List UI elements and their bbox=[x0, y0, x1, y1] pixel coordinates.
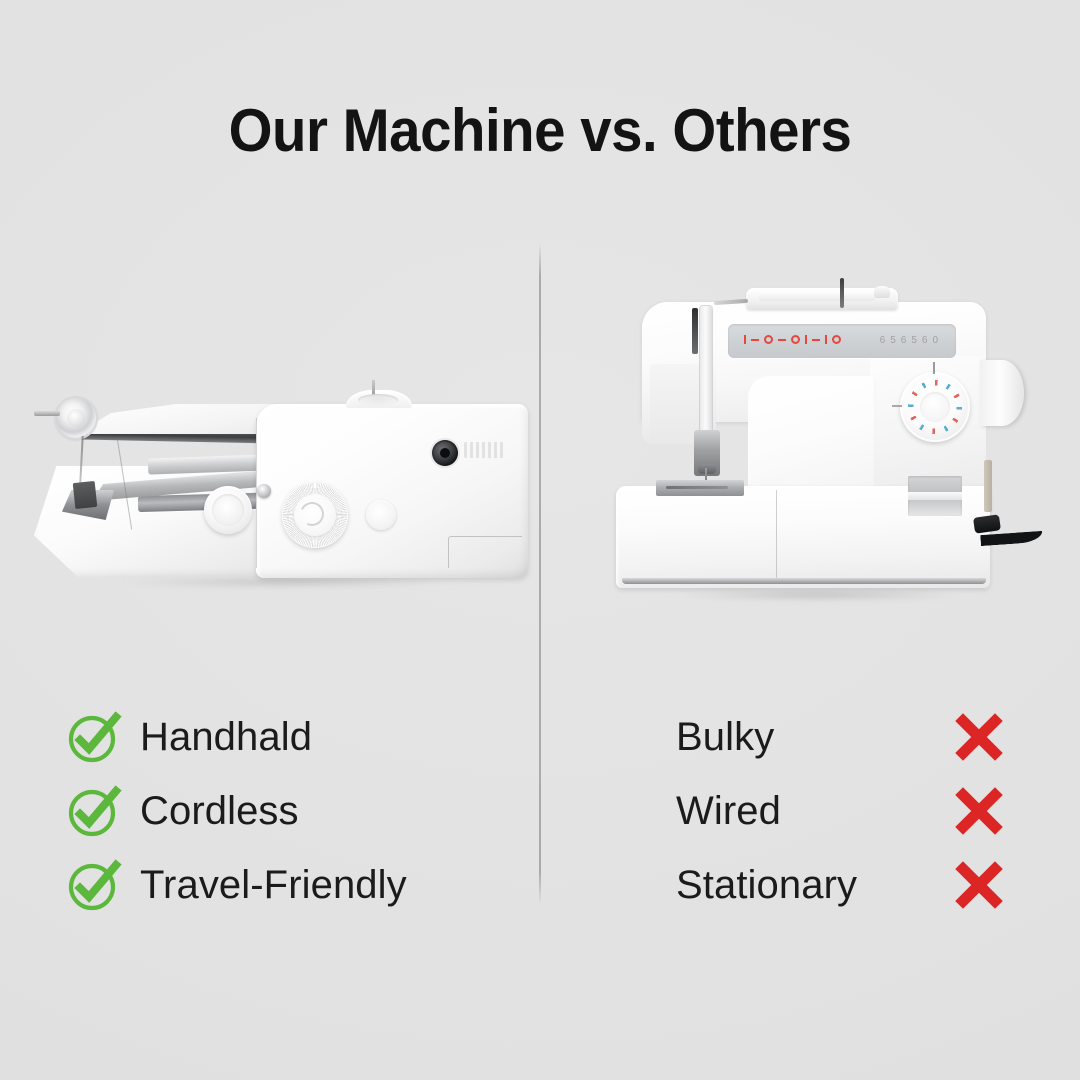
fullsize-sewing-machine-image: 6 5 6 5 6 0 bbox=[608, 272, 1040, 602]
infographic-canvas: Our Machine vs. Others bbox=[0, 0, 1080, 1080]
stitch-symbol-ring bbox=[832, 335, 841, 344]
base-seam bbox=[776, 490, 777, 584]
stitch-symbol-bar bbox=[751, 339, 759, 341]
stitch-panel-numbers: 6 5 6 5 6 0 bbox=[880, 336, 938, 346]
stitch-symbol-bar bbox=[812, 339, 820, 341]
page-title: Our Machine vs. Others bbox=[32, 96, 1047, 165]
handwheel bbox=[980, 360, 1024, 426]
stitch-symbol-ring bbox=[791, 335, 800, 344]
brand-marking bbox=[464, 442, 506, 458]
stitch-symbol-tick bbox=[825, 335, 827, 344]
feature-row-handheld: Handhald bbox=[66, 700, 526, 774]
circle-check-icon bbox=[66, 709, 140, 765]
feature-row-bulky: Bulky bbox=[676, 700, 1006, 774]
needle-bar-housing bbox=[700, 306, 712, 434]
feature-row-wired: Wired bbox=[676, 774, 1006, 848]
panel-number: 0 bbox=[932, 336, 938, 346]
panel-number: 6 bbox=[901, 336, 907, 346]
stitch-symbol-tick bbox=[805, 335, 807, 344]
bobbin-winder bbox=[874, 286, 890, 298]
panel-number: 5 bbox=[911, 336, 917, 346]
body-screw bbox=[257, 484, 271, 498]
bobbin-wheel bbox=[56, 398, 96, 438]
feature-label: Stationary bbox=[676, 863, 857, 908]
feed-dog-slot bbox=[666, 486, 728, 489]
thread-cap bbox=[204, 486, 252, 534]
our-machine-feature-list: Handhald Cordless Travel-Friendly bbox=[66, 700, 526, 922]
round-button bbox=[366, 500, 396, 530]
cross-icon bbox=[952, 860, 1006, 910]
circle-check-icon bbox=[66, 857, 140, 913]
stitch-symbols bbox=[744, 335, 841, 344]
battery-hatch-seam bbox=[448, 536, 522, 568]
other-machine-feature-list: Bulky Wired Stationary bbox=[676, 700, 1006, 922]
feature-label: Bulky bbox=[676, 715, 774, 760]
power-jack bbox=[432, 440, 458, 466]
reverse-lever-plate bbox=[908, 476, 962, 516]
stitch-dial-hub bbox=[920, 392, 950, 422]
stitch-symbol-ring bbox=[764, 335, 773, 344]
spool-pin bbox=[840, 278, 844, 308]
free-arm-recess bbox=[748, 376, 876, 492]
panel-number: 6 bbox=[922, 336, 928, 346]
stitch-symbol-bar bbox=[778, 339, 786, 341]
cross-icon bbox=[952, 786, 1006, 836]
feature-label: Cordless bbox=[140, 789, 299, 834]
presser-foot bbox=[694, 430, 720, 476]
dial-pointer-top bbox=[933, 362, 935, 374]
feature-row-stationary: Stationary bbox=[676, 848, 1006, 922]
circle-check-icon bbox=[66, 783, 140, 839]
power-cord bbox=[979, 516, 1043, 546]
feature-label: Handhald bbox=[140, 715, 312, 760]
feature-label: Wired bbox=[676, 789, 781, 834]
bobbin-spindle bbox=[34, 411, 60, 416]
base-footing bbox=[622, 578, 986, 584]
product-shadow bbox=[618, 588, 1018, 602]
side-panel-seam bbox=[984, 460, 992, 512]
stitch-pattern-panel: 6 5 6 5 6 0 bbox=[728, 324, 956, 358]
presser-foot-shank bbox=[73, 481, 98, 509]
dial-pointer-left bbox=[892, 405, 902, 407]
cross-icon bbox=[952, 712, 1006, 762]
spool-post-opening bbox=[358, 394, 398, 406]
feature-row-travel-friendly: Travel-Friendly bbox=[66, 848, 526, 922]
vertical-divider bbox=[539, 243, 541, 905]
handheld-sewing-machine-image bbox=[28, 378, 528, 593]
feature-row-cordless: Cordless bbox=[66, 774, 526, 848]
feature-label: Travel-Friendly bbox=[140, 863, 407, 908]
stitch-symbol-tick bbox=[744, 335, 746, 344]
panel-number: 6 bbox=[880, 336, 886, 346]
thread-takeup-lever bbox=[692, 308, 698, 354]
panel-number: 5 bbox=[890, 336, 896, 346]
